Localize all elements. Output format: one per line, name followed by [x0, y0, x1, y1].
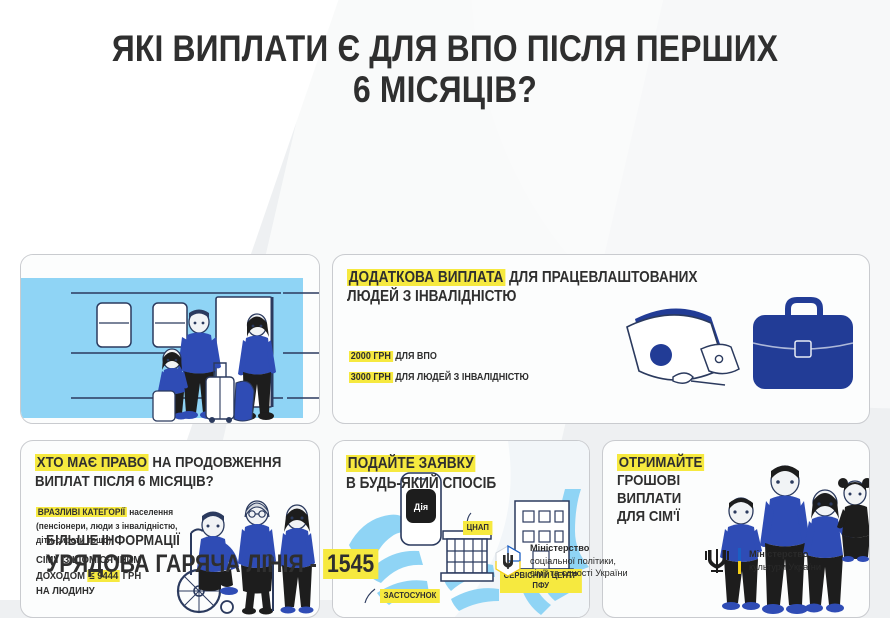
extra-payment-amounts: 2000 ГРН ДЛЯ ВПО 3000 ГРН ДЛЯ ЛЮДЕЙ З ІН… — [349, 351, 549, 393]
footer-hotline-label: УРЯДОВА ГАРЯЧА ЛІНІЯ - — [46, 550, 323, 578]
page-title-line2: 6 МІСЯЦІВ? — [62, 71, 827, 109]
amount-row-vpo: 2000 ГРН ДЛЯ ВПО — [349, 351, 529, 362]
ministry-culture-line1: Міністерство — [749, 549, 808, 559]
footer-more-info: БІЛЬШЕ ІНФОРМАЦІЇ — [46, 532, 180, 549]
ministry-culture-trident-icon — [704, 546, 730, 576]
page-footer: БІЛЬШЕ ІНФОРМАЦІЇ УРЯДОВА ГАРЯЧА ЛІНІЯ -… — [0, 510, 890, 600]
receive-heading-line3: ВИПЛАТИ — [617, 491, 704, 508]
who-heading-rest: НА ПРОДОВЖЕННЯ — [149, 454, 282, 471]
ukraine-flag-bar-icon — [738, 548, 741, 574]
ministry-social-line3: сім'ї та єдності України — [530, 568, 628, 578]
who-heading-highlight: ХТО МАЄ ПРАВО — [35, 454, 149, 471]
footer-hotline: УРЯДОВА ГАРЯЧА ЛІНІЯ - 1545 — [46, 550, 379, 579]
wallet-and-briefcase-illustration — [613, 273, 863, 423]
amount-value-vpo: 2000 ГРН — [349, 351, 393, 362]
amount-value-disability: 3000 ГРН — [349, 372, 393, 383]
logo-ministry-culture: Міністерство культури України — [704, 546, 821, 576]
apply-heading-line2: В БУДЬ-ЯКИЙ СПОСІБ — [346, 475, 496, 492]
apply-heading: ПОДАЙТЕ ЗАЯВКУ В БУДЬ-ЯКИЙ СПОСІБ — [346, 455, 517, 494]
footer-hotline-number: 1545 — [323, 549, 379, 579]
page-title-line1: ЯКІ ВИПЛАТИ Є ДЛЯ ВПО ПІСЛЯ ПЕРШИХ — [62, 30, 827, 68]
displaced-family-at-train-illustration — [21, 255, 320, 424]
card-extra-payment: ДОДАТКОВА ВИПЛАТА ДЛЯ ПРАЦЕВЛАШТОВАНИХ Л… — [332, 254, 870, 424]
amount-row-disability: 3000 ГРН ДЛЯ ЛЮДЕЙ З ІНВАЛІДНІСТЮ — [349, 372, 529, 383]
ministry-culture-line2: культури України — [749, 562, 821, 572]
ministry-culture-text: Міністерство культури України — [749, 548, 821, 573]
ministry-social-line2: соціальної політики, — [530, 556, 616, 566]
logo-ministry-social-policy: Міністерство соціальної політики, сім'ї … — [494, 542, 628, 580]
receive-heading-line2: ГРОШОВІ — [617, 473, 704, 490]
ministry-social-line1: Міністерство — [530, 543, 589, 553]
extra-payment-heading-highlight: ДОДАТКОВА ВИПЛАТА — [347, 269, 505, 286]
amount-label-vpo: ДЛЯ ВПО — [393, 351, 437, 362]
card-train-illustration — [20, 254, 320, 424]
apply-heading-highlight: ПОДАЙТЕ ЗАЯВКУ — [346, 455, 476, 472]
page-header: ЯКІ ВИПЛАТИ Є ДЛЯ ВПО ПІСЛЯ ПЕРШИХ 6 МІС… — [0, 0, 890, 108]
receive-heading-highlight: ОТРИМАЙТЕ — [617, 454, 704, 471]
amount-label-disability: ДЛЯ ЛЮДЕЙ З ІНВАЛІДНІСТЮ — [393, 372, 529, 383]
ministry-social-policy-text: Міністерство соціальної політики, сім'ї … — [530, 542, 628, 580]
ministry-social-policy-emblem-icon — [494, 545, 522, 577]
